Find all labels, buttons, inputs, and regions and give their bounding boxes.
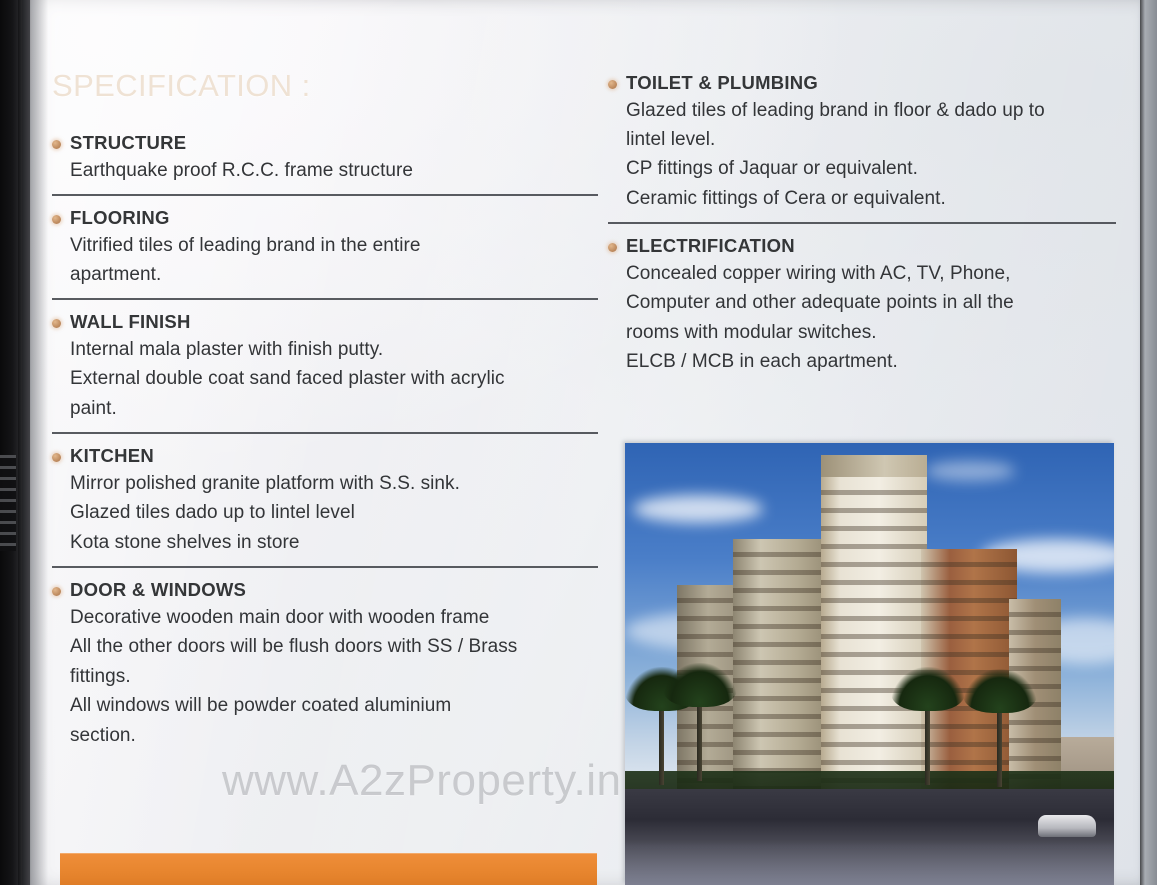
spec-section: TOILET & PLUMBINGGlazed tiles of leading…	[608, 72, 1132, 213]
spec-section-line: Ceramic fittings of Cera or equivalent.	[626, 184, 1132, 213]
cloud	[925, 461, 1015, 481]
spec-section-body: KITCHENMirror polished granite platform …	[52, 445, 600, 557]
section-divider	[608, 222, 1116, 224]
spec-section-line: Concealed copper wiring with AC, TV, Pho…	[626, 259, 1132, 288]
spec-section-heading: FLOORING	[70, 207, 600, 230]
right-spec-column: TOILET & PLUMBINGGlazed tiles of leading…	[608, 72, 1132, 377]
spec-section: STRUCTUREEarthquake proof R.C.C. frame s…	[52, 132, 600, 185]
spec-section: KITCHENMirror polished granite platform …	[52, 445, 600, 557]
spec-section-line: lintel level.	[626, 125, 1132, 154]
page-title: SPECIFICATION :	[52, 68, 311, 104]
road	[625, 789, 1114, 885]
spec-section-line: Glazed tiles of leading brand in floor &…	[626, 96, 1132, 125]
spec-section-heading: DOOR & WINDOWS	[70, 579, 600, 602]
spec-section-line: All the other doors will be flush doors …	[70, 632, 600, 661]
spec-section-line: Internal mala plaster with finish putty.	[70, 335, 600, 364]
tower-left	[733, 539, 825, 797]
left-spec-column: STRUCTUREEarthquake proof R.C.C. frame s…	[52, 132, 600, 750]
spec-section-line: Kota stone shelves in store	[70, 528, 600, 557]
section-divider	[52, 194, 598, 196]
spec-section-body: TOILET & PLUMBINGGlazed tiles of leading…	[608, 72, 1132, 213]
spec-section-line: CP fittings of Jaquar or equivalent.	[626, 154, 1132, 183]
spec-section-line: Decorative wooden main door with wooden …	[70, 603, 600, 632]
spec-section-line: Mirror polished granite platform with S.…	[70, 469, 600, 498]
tower-main	[821, 477, 927, 797]
section-divider	[52, 298, 598, 300]
car	[1038, 815, 1096, 837]
spec-section-line: rooms with modular switches.	[626, 318, 1132, 347]
spec-section-line: ELCB / MCB in each apartment.	[626, 347, 1132, 376]
brochure-page: SPECIFICATION : STRUCTUREEarthquake proo…	[0, 0, 1157, 885]
spec-section-heading: TOILET & PLUMBING	[626, 72, 1132, 95]
spec-section-line: paint.	[70, 394, 600, 423]
cloud	[633, 495, 763, 523]
bullet-icon	[608, 80, 617, 89]
spec-section-heading: KITCHEN	[70, 445, 600, 468]
spec-section-line: Vitrified tiles of leading brand in the …	[70, 231, 600, 260]
spec-section: DOOR & WINDOWSDecorative wooden main doo…	[52, 579, 600, 750]
orange-footer-bar	[60, 853, 597, 885]
spec-section-line: apartment.	[70, 260, 600, 289]
spec-section-line: All windows will be powder coated alumin…	[70, 691, 600, 720]
bullet-icon	[52, 215, 61, 224]
spec-section-line: Earthquake proof R.C.C. frame structure	[70, 156, 600, 185]
building-photo	[625, 443, 1114, 885]
spec-section-body: FLOORINGVitrified tiles of leading brand…	[52, 207, 600, 289]
photo-sky	[625, 443, 1114, 885]
tower-main-roof	[821, 455, 927, 477]
spec-section: FLOORINGVitrified tiles of leading brand…	[52, 207, 600, 289]
spec-section-heading: WALL FINISH	[70, 311, 600, 334]
spec-section-body: STRUCTUREEarthquake proof R.C.C. frame s…	[52, 132, 600, 185]
spec-section: ELECTRIFICATIONConcealed copper wiring w…	[608, 235, 1132, 376]
book-gutter-shadow	[18, 0, 48, 885]
spec-section-body: WALL FINISHInternal mala plaster with fi…	[52, 311, 600, 423]
spec-section-line: Computer and other adequate points in al…	[626, 288, 1132, 317]
spec-section-line: Glazed tiles dado up to lintel level	[70, 498, 600, 527]
spec-section-line: External double coat sand faced plaster …	[70, 364, 600, 393]
bullet-icon	[52, 140, 61, 149]
spec-section-body: ELECTRIFICATIONConcealed copper wiring w…	[608, 235, 1132, 376]
spec-section-heading: STRUCTURE	[70, 132, 600, 155]
spec-section-body: DOOR & WINDOWSDecorative wooden main doo…	[52, 579, 600, 750]
spec-section-line: fittings.	[70, 662, 600, 691]
spec-section: WALL FINISHInternal mala plaster with fi…	[52, 311, 600, 423]
spec-section-heading: ELECTRIFICATION	[626, 235, 1132, 258]
spiral-binding-icon	[0, 455, 16, 551]
page-right-edge	[1137, 0, 1157, 885]
spec-section-line: section.	[70, 721, 600, 750]
section-divider	[52, 566, 598, 568]
section-divider	[52, 432, 598, 434]
